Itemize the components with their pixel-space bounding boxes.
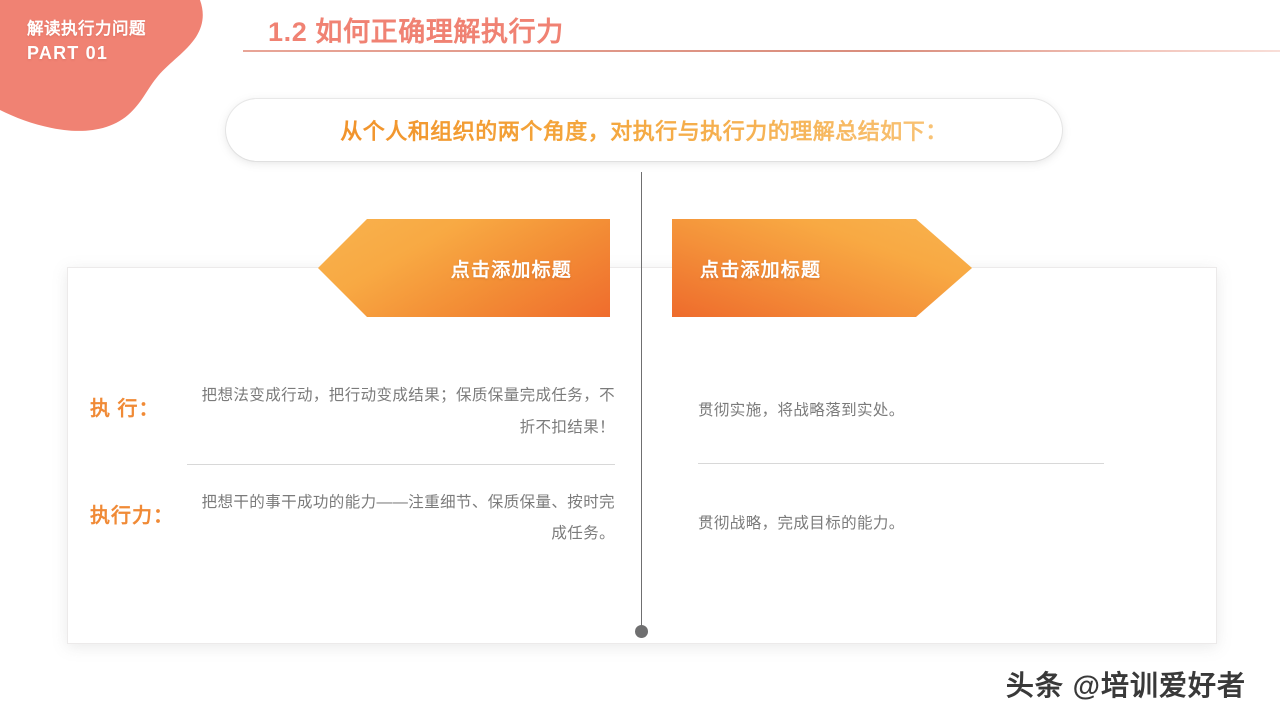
left-column-separator [187, 464, 615, 465]
center-divider-dot [635, 625, 648, 638]
banner-left-label: 点击添加标题 [451, 255, 572, 282]
right-column-separator [698, 463, 1104, 464]
slide-canvas: 解读执行力问题 PART 01 1.2 如何正确理解执行力 从个人和组织的两个角… [0, 0, 1280, 720]
section-label-line2: PART 01 [27, 41, 146, 67]
right-paragraph-1: 贯彻实施，将战略落到实处。 [698, 395, 1198, 427]
subtitle-pill: 从个人和组织的两个角度，对执行与执行力的理解总结如下： [226, 99, 1062, 161]
left-row-1-term: 执 行： [90, 380, 198, 421]
left-row-2-description: 把想干的事干成功的能力——注重细节、保质保量、按时完成任务。 [198, 487, 615, 551]
banner-right-label: 点击添加标题 [700, 255, 821, 282]
banner-right[interactable]: 点击添加标题 [672, 219, 972, 317]
left-row-2-term: 执行力： [90, 487, 198, 528]
section-label-line1: 解读执行力问题 [27, 18, 146, 41]
left-column: 执 行： 把想法变成行动，把行动变成结果；保质保量完成任务，不折不扣结果！ 执行… [90, 380, 615, 550]
banner-left[interactable]: 点击添加标题 [318, 219, 610, 317]
section-label: 解读执行力问题 PART 01 [27, 18, 146, 67]
left-row-2: 执行力： 把想干的事干成功的能力——注重细节、保质保量、按时完成任务。 [90, 487, 615, 551]
right-paragraph-2: 贯彻战略，完成目标的能力。 [698, 508, 1198, 540]
subtitle-text: 从个人和组织的两个角度，对执行与执行力的理解总结如下： [340, 114, 948, 146]
right-column: 贯彻实施，将战略落到实处。 贯彻战略，完成目标的能力。 [698, 395, 1198, 540]
center-divider-line [641, 172, 642, 628]
page-title: 1.2 如何正确理解执行力 [268, 10, 564, 49]
left-row-1: 执 行： 把想法变成行动，把行动变成结果；保质保量完成任务，不折不扣结果！ [90, 380, 615, 444]
left-row-1-description: 把想法变成行动，把行动变成结果；保质保量完成任务，不折不扣结果！ [198, 380, 615, 444]
watermark: 头条 @培训爱好者 [1006, 664, 1246, 704]
title-underline-rule [243, 50, 1280, 52]
